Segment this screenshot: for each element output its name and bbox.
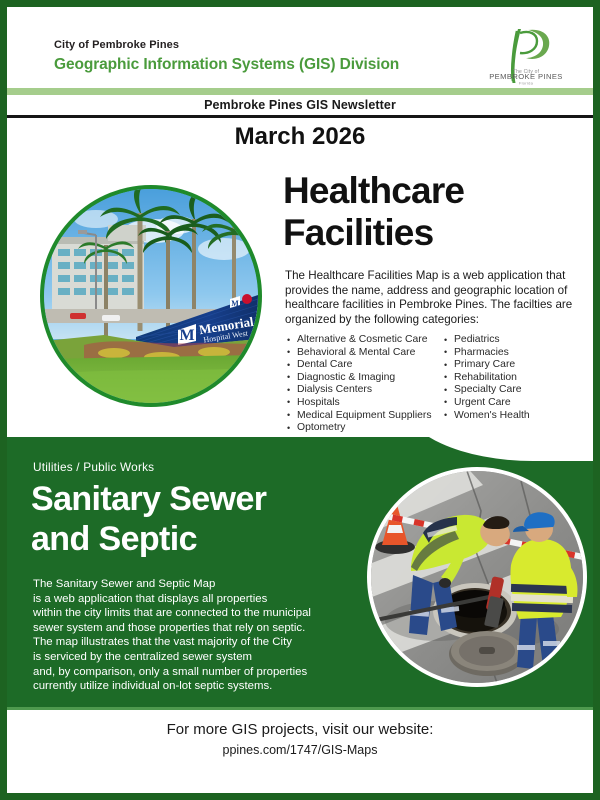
masthead: City of Pembroke Pines Geographic Inform… (7, 7, 593, 88)
healthcare-title: Healthcare Facilities (283, 170, 464, 254)
list-item: Behavioral & Mental Care (285, 347, 442, 360)
title-divider-rule (7, 115, 593, 118)
healthcare-body-text: The Healthcare Facilities Map is a web a… (285, 269, 585, 327)
healthcare-photo: M Memorial Hospital West 801 - 703 N FLA… (40, 185, 262, 407)
sewer-title-line-2: and Septic (31, 519, 266, 559)
svg-text:Florida: Florida (519, 81, 534, 86)
sewer-title: Sanitary Sewer and Septic (31, 479, 266, 559)
healthcare-categories-left-column: Alternative & Cosmetic Care Behavioral &… (285, 334, 442, 435)
list-item: Primary Care (442, 359, 590, 372)
sewer-body-text: The Sanitary Sewer and Septic Map is a w… (33, 577, 353, 694)
list-item: Rehabilitation (442, 372, 590, 385)
footer: For more GIS projects, visit our website… (7, 719, 593, 759)
list-item: Specialty Care (442, 384, 590, 397)
svg-text:M: M (231, 299, 239, 308)
list-item: Dialysis Centers (285, 384, 442, 397)
masthead-divider-rule (7, 88, 593, 95)
list-item: Dental Care (285, 359, 442, 372)
city-name: City of Pembroke Pines (54, 38, 399, 52)
svg-text:M: M (179, 327, 194, 344)
newsletter-title-bar: Pembroke Pines GIS Newsletter (7, 95, 593, 115)
sanitary-sewer-section: Utilities / Public Works Sanitary Sewer … (7, 437, 593, 707)
list-item: Urgent Care (442, 397, 590, 410)
list-item: Alternative & Cosmetic Care (285, 334, 442, 347)
sewer-title-line-1: Sanitary Sewer (31, 479, 266, 519)
list-item: Hospitals (285, 397, 442, 410)
pembroke-pines-logo-icon: The City of PEMBROKE PINES Florida (487, 25, 565, 87)
footer-prompt: For more GIS projects, visit our website… (7, 719, 593, 741)
division-name: Geographic Information Systems (GIS) Div… (54, 55, 399, 75)
issue-date: March 2026 (7, 123, 593, 151)
footer-website-url[interactable]: ppines.com/1747/GIS-Maps (7, 741, 593, 759)
healthcare-section: M Memorial Hospital West 801 - 703 N FLA… (7, 157, 593, 437)
list-item: Optometry (285, 422, 442, 435)
list-item: Women's Health (442, 410, 590, 423)
healthcare-category-lists: Alternative & Cosmetic Care Behavioral &… (285, 334, 590, 435)
list-item: Pharmacies (442, 347, 590, 360)
healthcare-title-line-1: Healthcare (283, 170, 464, 212)
sewer-photo (367, 467, 587, 687)
healthcare-title-line-2: Facilities (283, 212, 464, 254)
sewer-bottom-rule (7, 707, 593, 710)
sewer-kicker-label: Utilities / Public Works (33, 460, 154, 474)
list-item: Medical Equipment Suppliers (285, 410, 442, 423)
newsletter-page: City of Pembroke Pines Geographic Inform… (0, 0, 600, 800)
list-item: Diagnostic & Imaging (285, 372, 442, 385)
section-curve-decoration (403, 437, 593, 461)
healthcare-categories-right-column: Pediatrics Pharmacies Primary Care Rehab… (442, 334, 590, 435)
list-item: Pediatrics (442, 334, 590, 347)
newsletter-title: Pembroke Pines GIS Newsletter (204, 98, 396, 112)
masthead-text-block: City of Pembroke Pines Geographic Inform… (54, 38, 399, 75)
